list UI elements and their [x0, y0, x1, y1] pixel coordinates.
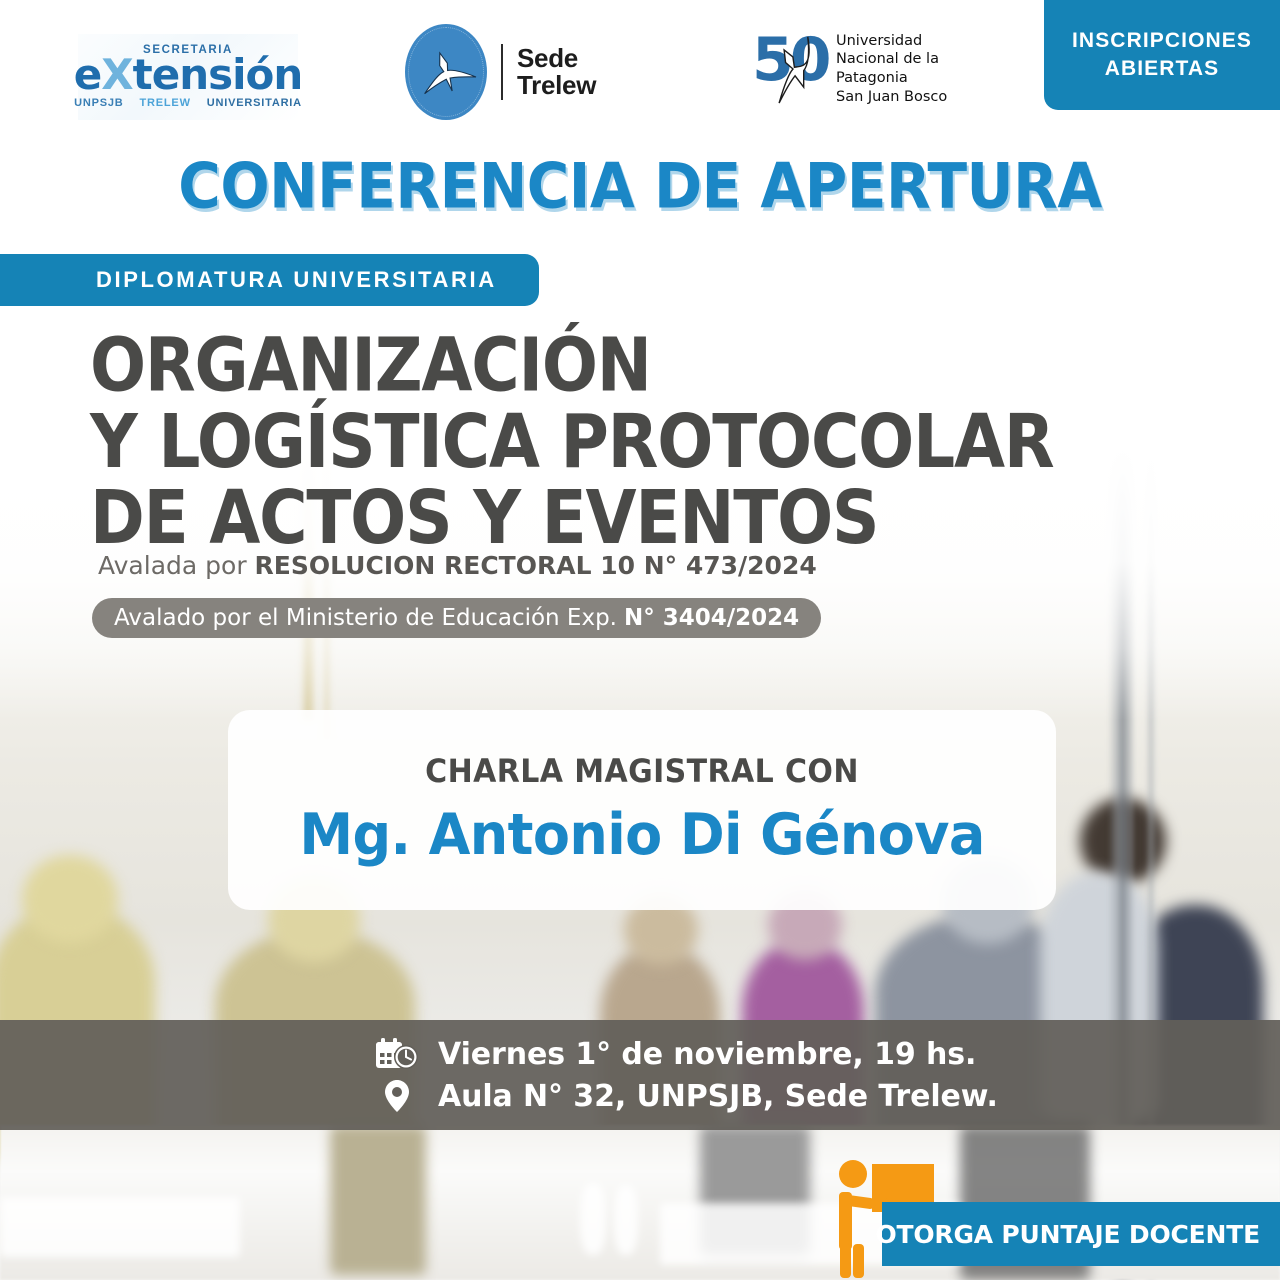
logo-extension-universitaria: UNIVERSITARIA	[207, 97, 302, 109]
logo-secretaria-extension: SECRETARIA eXtensión UNPSJB TRELEW UNIVE…	[78, 34, 298, 120]
logo-sede-text: Sede Trelew	[517, 45, 596, 100]
inscriptions-line1: INSCRIPCIONES	[1072, 27, 1252, 55]
logo-50-aniversario: 50 Universidad Nacional de la Patagonia …	[752, 30, 947, 108]
logo-extension-x: X	[101, 50, 132, 99]
teacher-credit-label: OTORGA PUNTAJE DOCENTE	[875, 1220, 1260, 1249]
endorsement-ministry-prefix: Avalado por el Ministerio de Educación E…	[114, 605, 617, 631]
speaker-card: CHARLA MAGISTRAL CON Mg. Antonio Di Géno…	[228, 710, 1056, 910]
inscriptions-line2: ABIERTAS	[1105, 55, 1220, 83]
event-location-row: Aula N° 32, UNPSJB, Sede Trelew.	[374, 1078, 1280, 1114]
logo-divider	[501, 44, 503, 100]
logo-extension-wordmark: eXtensión	[74, 54, 303, 96]
logo-sede-trelew: Sede Trelew	[405, 24, 596, 120]
endorsement-resolution: Avalada por RESOLUCION RECTORAL 10 N° 47…	[98, 551, 817, 580]
program-type-label: DIPLOMATURA UNIVERSITARIA	[96, 267, 497, 293]
teacher-credit-badge: OTORGA PUNTAJE DOCENTE	[820, 1158, 1280, 1280]
course-title-line-2: Y LOGÍSTICA PROTOCOLAR	[90, 404, 1090, 480]
anniversary-mark: 50	[752, 30, 826, 108]
endorsement-resolution-number: RESOLUCION RECTORAL 10 N° 473/2024	[255, 551, 817, 580]
logo-extension-e: e	[74, 50, 102, 99]
logo-extension-subline: UNPSJB TRELEW UNIVERSITARIA	[74, 97, 302, 109]
speaker-pretitle: CHARLA MAGISTRAL CON	[425, 753, 859, 791]
header: SECRETARIA eXtensión UNPSJB TRELEW UNIVE…	[0, 0, 1280, 140]
logo-extension-rest: tensión	[133, 50, 303, 99]
logo-50-line2: Nacional de la	[836, 50, 947, 69]
event-date-row: Viernes 1° de noviembre, 19 hs.	[374, 1036, 1280, 1072]
conference-title: CONFERENCIA DE APERTURA	[0, 149, 1280, 222]
endorsement-ministry-number: N° 3404/2024	[624, 605, 799, 631]
calendar-clock-icon	[374, 1036, 420, 1072]
speaker-name: Mg. Antonio Di Génova	[299, 801, 984, 868]
logo-50-line3: Patagonia	[836, 69, 947, 88]
logo-extension-unpsjb: UNPSJB	[74, 97, 123, 109]
event-info-bar: Viernes 1° de noviembre, 19 hs. Aula N° …	[0, 1020, 1280, 1130]
logo-50-university-text: Universidad Nacional de la Patagonia San…	[836, 32, 947, 106]
event-location-text: Aula N° 32, UNPSJB, Sede Trelew.	[438, 1079, 998, 1114]
logo-50-line1: Universidad	[836, 32, 947, 51]
endorsement-resolution-prefix: Avalada por	[98, 551, 255, 580]
course-title-line-3: DE ACTOS Y EVENTOS	[90, 480, 1090, 556]
event-date-text: Viernes 1° de noviembre, 19 hs.	[438, 1037, 976, 1072]
map-pin-icon	[374, 1078, 420, 1114]
course-title-line-1: ORGANIZACIÓN	[90, 328, 1090, 404]
inscriptions-open-badge[interactable]: INSCRIPCIONES ABIERTAS	[1044, 0, 1280, 110]
course-title: ORGANIZACIÓN Y LOGÍSTICA PROTOCOLAR DE A…	[90, 328, 1090, 556]
logo-50-line4: San Juan Bosco	[836, 88, 947, 107]
logo-extension-trelew: TRELEW	[140, 97, 191, 109]
unpsjb-seal-icon	[405, 24, 487, 120]
program-type-pill: DIPLOMATURA UNIVERSITARIA	[0, 254, 539, 306]
teacher-credit-bar: OTORGA PUNTAJE DOCENTE	[882, 1202, 1280, 1266]
logo-sede-line2: Trelew	[517, 72, 596, 99]
logo-sede-line1: Sede	[517, 45, 596, 72]
endorsement-ministry: Avalado por el Ministerio de Educación E…	[92, 598, 821, 638]
